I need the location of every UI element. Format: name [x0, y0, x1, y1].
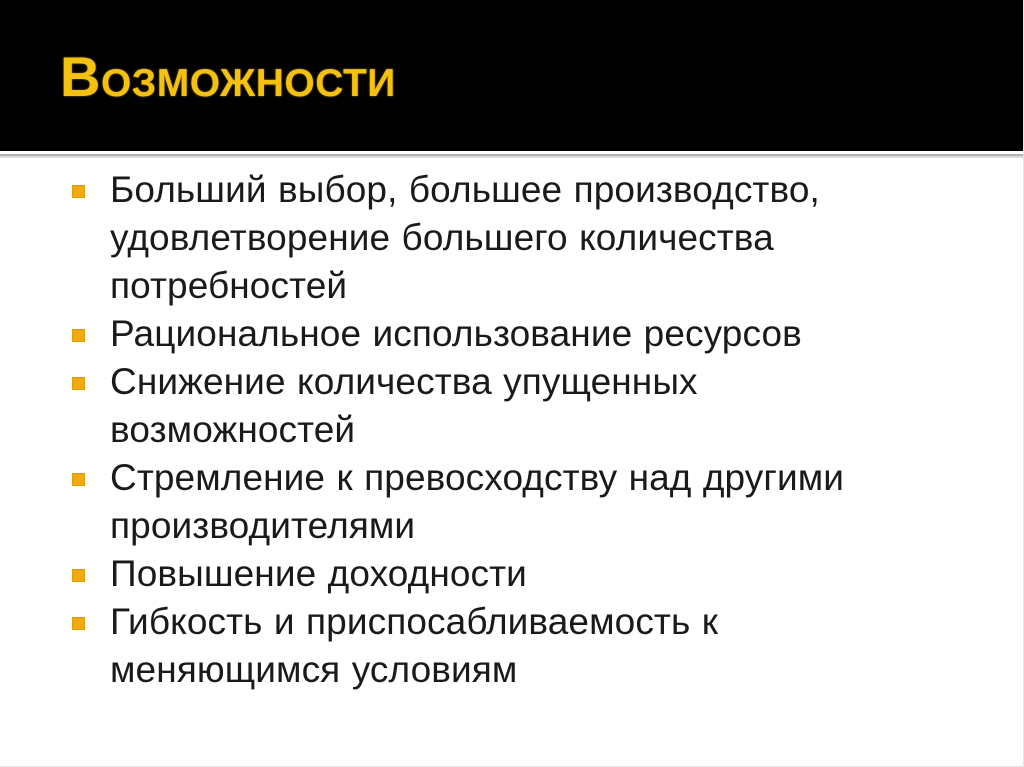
presentation-slide: Возможности Больший выбор, большее произ…	[0, 0, 1024, 767]
list-item-label: Повышение доходности	[110, 550, 930, 598]
list-item: Снижение количества упущенных возможност…	[0, 358, 1024, 454]
header-divider-shadow	[0, 156, 1024, 158]
list-item: Повышение доходности	[0, 550, 1024, 598]
square-bullet-icon	[72, 569, 85, 582]
list-item: Гибкость и приспосабливаемость к меняющи…	[0, 598, 1024, 694]
list-item-label: Снижение количества упущенных возможност…	[110, 358, 930, 454]
square-bullet-icon	[72, 377, 85, 390]
list-item: Больший выбор, большее производство, удо…	[0, 166, 1024, 310]
page-title: Возможности	[60, 46, 396, 108]
list-item-label: Стремление к превосходству над другими п…	[110, 454, 930, 550]
list-item-label: Гибкость и приспосабливаемость к меняющи…	[110, 598, 930, 694]
square-bullet-icon	[72, 617, 85, 630]
list-item: Рациональное использование ресурсов	[0, 310, 1024, 358]
list-item-label: Больший выбор, большее производство, удо…	[110, 166, 930, 310]
slide-header-band: Возможности	[0, 0, 1024, 151]
header-divider	[0, 151, 1024, 160]
square-bullet-icon	[72, 473, 85, 486]
square-bullet-icon	[72, 185, 85, 198]
list-item-label: Рациональное использование ресурсов	[110, 310, 930, 358]
list-item: Стремление к превосходству над другими п…	[0, 454, 1024, 550]
bullet-list: Больший выбор, большее производство, удо…	[0, 166, 1024, 694]
square-bullet-icon	[72, 329, 85, 342]
slide-body: Больший выбор, большее производство, удо…	[0, 166, 1024, 766]
